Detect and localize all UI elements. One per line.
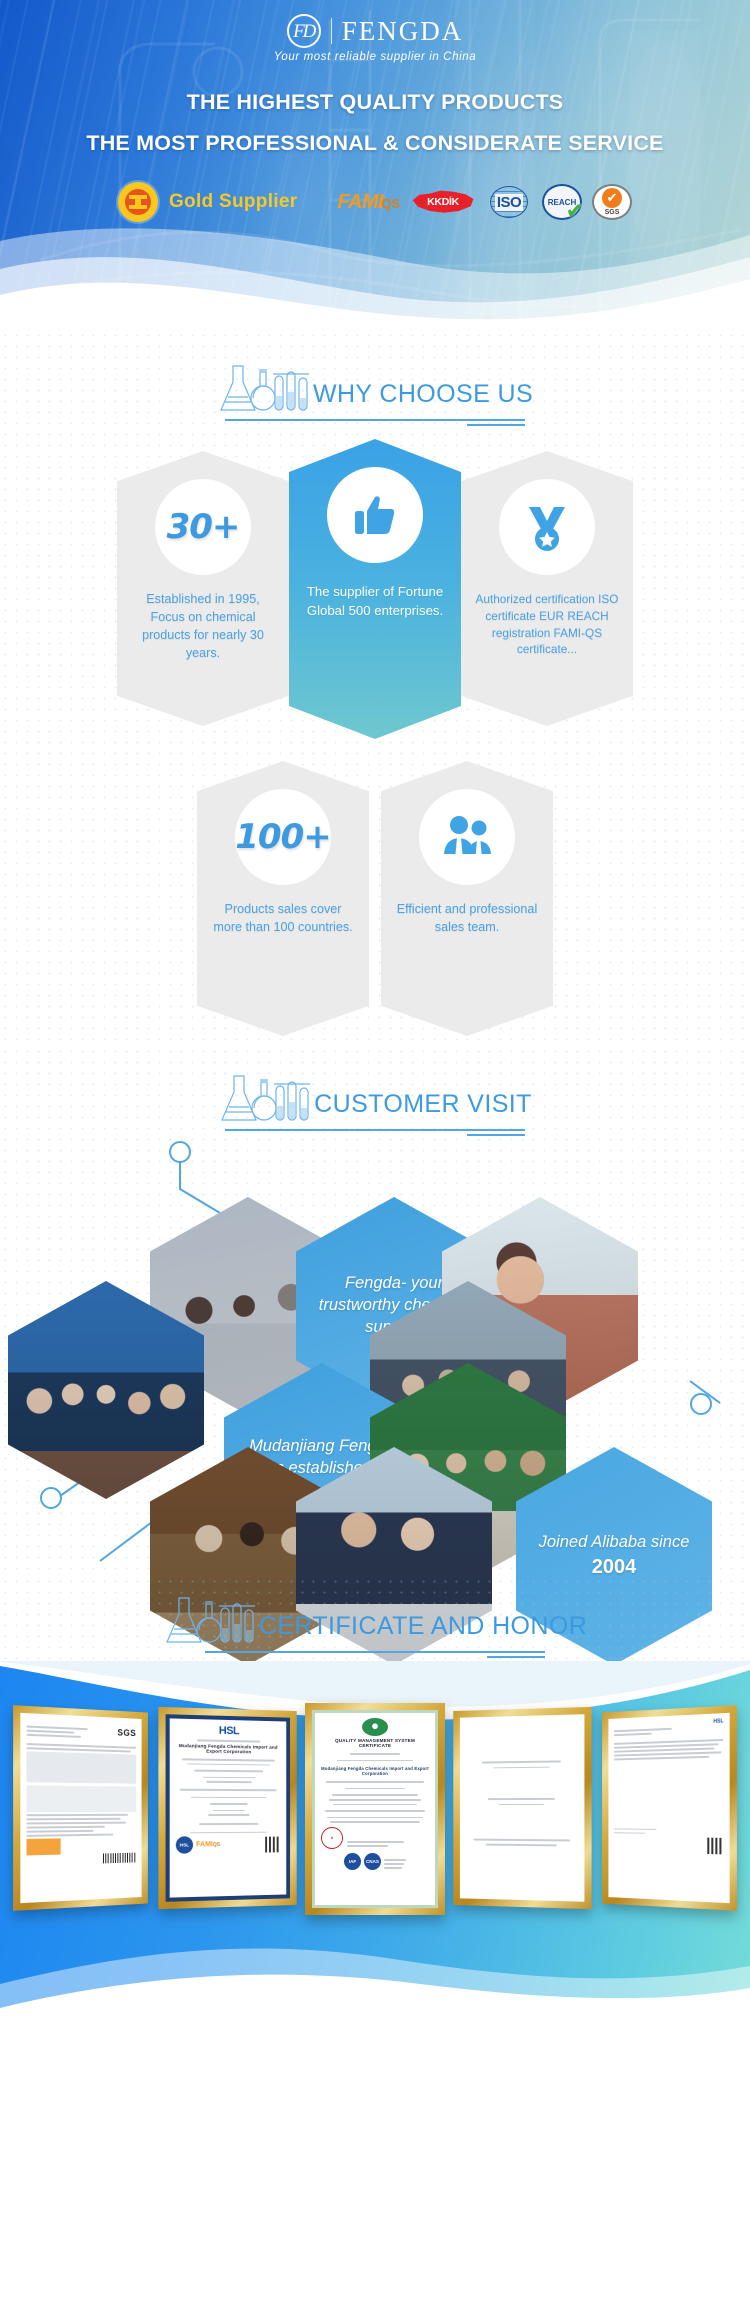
certificate-document: HSL <box>608 1713 729 1903</box>
infographic-page: FD FENGDA Your most reliable supplier in… <box>0 0 750 2101</box>
years-number: 30+ <box>167 507 240 547</box>
check-icon: ✔ <box>602 188 622 208</box>
certificate-honor-section: CERTIFICATE AND HONOR SGS <box>0 1576 750 2101</box>
fami-qs-main: FAMI <box>337 191 383 214</box>
lab-glassware-icon <box>163 1594 255 1646</box>
countries-badge-circle: 100+ <box>235 789 331 885</box>
certificate-title: QUALITY MANAGEMENT SYSTEM CERTIFICATE <box>321 1738 429 1748</box>
why-card-countries[interactable]: 100+ Products sales cover more than 100 … <box>197 761 369 1036</box>
certificate-section-rule <box>205 1651 545 1657</box>
years-text: Established in 1995, Focus on chemical p… <box>129 591 277 663</box>
why-section-header: WHY CHOOSE US <box>0 352 750 414</box>
team-people-icon <box>438 812 496 862</box>
customer-visit-section: CUSTOMER VISIT Fengda- your <box>0 1046 750 1576</box>
doc-body-lines <box>176 1758 281 1833</box>
logo-divider <box>331 18 332 44</box>
orange-stamp-block <box>27 1838 61 1855</box>
countries-number: 100+ <box>235 817 330 857</box>
certificate-frame-5[interactable]: HSL <box>602 1705 737 1911</box>
doc-body-lines <box>321 1781 429 1823</box>
medal-icon <box>519 499 575 555</box>
why-cards-row-2: 100+ Products sales cover more than 100 … <box>0 761 750 1036</box>
connector-ring-top <box>169 1141 191 1163</box>
visit-section-header: CUSTOMER VISIT <box>0 1062 750 1124</box>
sgs-badge: ✔ SGS <box>592 184 632 220</box>
hero-headline-1: THE HIGHEST QUALITY PRODUCTS <box>0 90 750 115</box>
team-text: Efficient and professional sales team. <box>393 901 541 937</box>
badge-row: Gold Supplier FAMI QS KKDİK ISO <box>0 182 750 222</box>
visit-caption-text: Joined Alibaba since 2004 <box>516 1532 712 1580</box>
doc-body-lines <box>27 1743 137 1836</box>
certificates-gallery: SGS HSL <box>0 1661 750 2031</box>
doc-body-lines <box>614 1739 724 1760</box>
page-bottom-padding <box>0 2031 750 2101</box>
countries-text: Products sales cover more than 100 count… <box>209 901 357 937</box>
kkdik-label: KKDİK <box>427 196 459 208</box>
fami-qs-logo-icon: FAMIQS <box>196 1841 220 1848</box>
certificate-frame-4[interactable] <box>453 1707 591 1909</box>
sgs-label: SGS <box>605 209 620 216</box>
visit-section-rule <box>225 1129 525 1135</box>
thumbs-up-circle <box>327 467 423 563</box>
hero-headline-2: THE MOST PROFESSIONAL & CONSIDERATE SERV… <box>0 131 750 156</box>
customer-visit-collage: Fengda- your trustworthy chemical suppli… <box>0 1141 750 1611</box>
certificate-document: QUALITY MANAGEMENT SYSTEM CERTIFICATE Mu… <box>312 1710 438 1908</box>
gold-supplier-badge: Gold Supplier <box>118 182 297 222</box>
why-card-fortune[interactable]: The supplier of Fortune Global 500 enter… <box>289 439 461 739</box>
visit-section-title: CUSTOMER VISIT <box>314 1092 532 1124</box>
brand-logo: FD FENGDA Your most reliable supplier in… <box>0 14 750 63</box>
fengda-monogram-icon: FD <box>287 14 321 48</box>
why-card-years[interactable]: 30+ Established in 1995, Focus on chemic… <box>117 451 289 726</box>
barcode-icon <box>103 1853 136 1864</box>
fortune-text: The supplier of Fortune Global 500 enter… <box>301 583 449 620</box>
certificate-brand: HSL <box>176 1724 281 1738</box>
doc-footer-logos: HSL FAMIQS <box>176 1836 281 1854</box>
fami-qs-badge: FAMI QS <box>337 191 400 214</box>
doc-body-lines <box>466 1760 579 1846</box>
thumbs-up-icon <box>347 487 403 543</box>
why-card-certification[interactable]: Authorized certification ISO certificate… <box>461 451 633 726</box>
brand-name: FENGDA <box>342 16 464 47</box>
certificate-document <box>460 1714 584 1902</box>
certificate-section-title: CERTIFICATE AND HONOR <box>259 1614 587 1646</box>
certificate-document: SGS <box>20 1713 141 1903</box>
certification-badge-group: FAMI QS KKDİK ISO REACH ✔ <box>337 184 632 220</box>
iaf-logo-icon: IAF <box>344 1853 361 1870</box>
hero-wave-divider <box>0 211 750 330</box>
cnas-logo-icon: CNAS <box>364 1853 381 1870</box>
certificate-frame-hsl[interactable]: HSL Mudanjiang Fengda Chemicals Import a… <box>158 1707 296 1909</box>
lab-glassware-icon <box>217 362 309 414</box>
fami-qs-sub: QS <box>381 196 400 211</box>
why-card-team[interactable]: Efficient and professional sales team. <box>381 761 553 1036</box>
hero-banner: FD FENGDA Your most reliable supplier in… <box>0 0 750 330</box>
hsl-logo-icon: HSL <box>176 1836 193 1853</box>
why-choose-us-section: WHY CHOOSE US 30+ Established in 1995, F… <box>0 330 750 1046</box>
team-circle <box>419 789 515 885</box>
reach-badge: REACH <box>542 184 582 220</box>
certificate-section-header: CERTIFICATE AND HONOR <box>0 1576 750 1646</box>
certificate-brand: SGS <box>117 1727 136 1738</box>
certificate-brand: HSL <box>713 1718 723 1725</box>
iso-label: ISO <box>495 194 523 211</box>
alibaba-coin-icon <box>118 182 158 222</box>
certificate-subtitle: Mudanjiang Fengda Chemicals Import and E… <box>321 1766 429 1776</box>
iso-badge: ISO <box>486 185 532 219</box>
years-badge-circle: 30+ <box>155 479 251 575</box>
certificate-document: HSL Mudanjiang Fengda Chemicals Import a… <box>166 1714 290 1902</box>
why-section-title: WHY CHOOSE US <box>313 382 533 414</box>
red-seal-stamp-icon: ★ <box>319 1825 345 1851</box>
kkdik-badge: KKDİK <box>410 185 476 219</box>
reach-label: REACH <box>548 198 576 207</box>
certificate-frame-sgs[interactable]: SGS <box>13 1705 148 1911</box>
certificate-frame-quality[interactable]: QUALITY MANAGEMENT SYSTEM CERTIFICATE Mu… <box>305 1703 445 1915</box>
certificates-bottom-wave <box>0 1922 750 2031</box>
certification-text: Authorized certification ISO certificate… <box>473 591 621 658</box>
qr-code-icon <box>707 1838 723 1855</box>
sgs-header: SGS <box>27 1718 137 1742</box>
why-cards-row-1: 30+ Established in 1995, Focus on chemic… <box>0 451 750 739</box>
why-section-rule <box>225 419 525 425</box>
doc-accreditation-logos: IAF CNAS <box>321 1852 429 1871</box>
certificate-title: Mudanjiang Fengda Chemicals Import and E… <box>176 1743 281 1755</box>
globe-emblem-icon <box>362 1718 388 1736</box>
qr-code-icon <box>265 1836 280 1852</box>
medal-circle <box>499 479 595 575</box>
connector-ring-left <box>40 1487 62 1509</box>
brand-tagline: Your most reliable supplier in China <box>274 51 477 63</box>
lab-glassware-icon <box>218 1072 310 1124</box>
gold-supplier-label: Gold Supplier <box>169 191 297 213</box>
connector-ring-lower-right <box>690 1393 712 1415</box>
